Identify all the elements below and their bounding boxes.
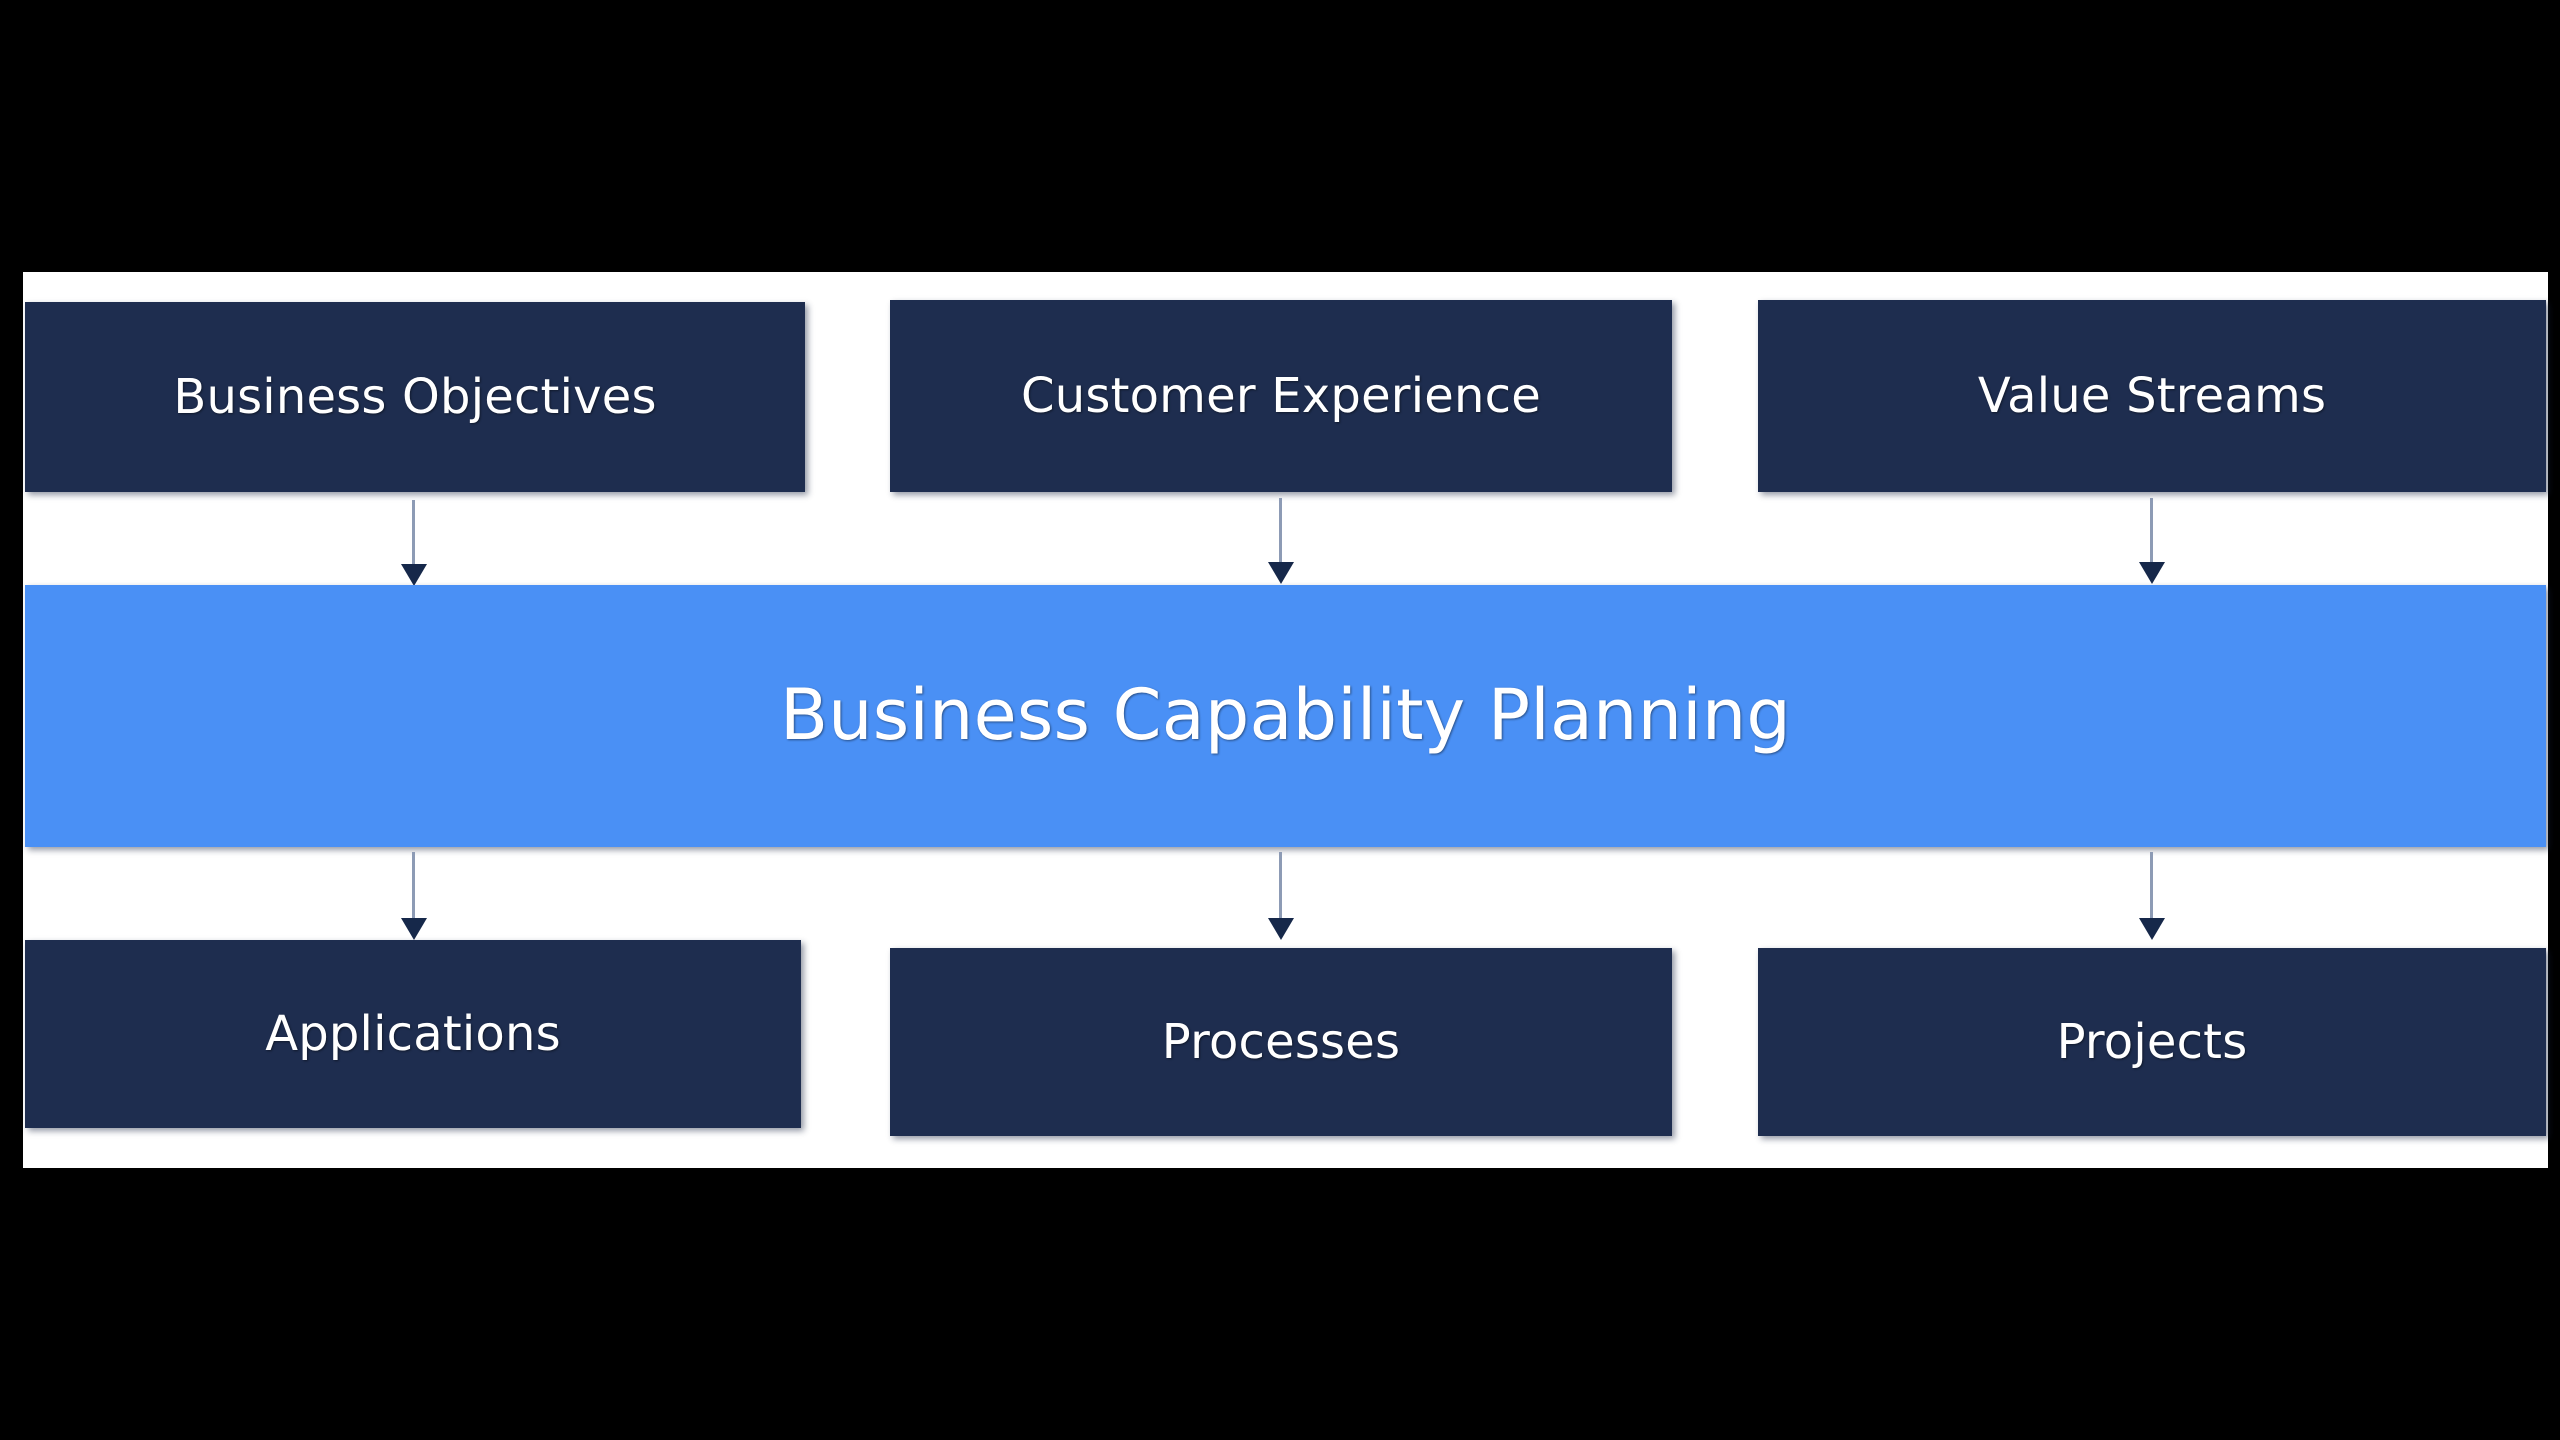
- node-business-objectives[interactable]: Business Objectives: [25, 302, 805, 492]
- node-business-objectives-label: Business Objectives: [25, 372, 805, 422]
- arrow-shaft: [1279, 498, 1282, 564]
- slide-canvas: Business Objectives Customer Experience …: [23, 272, 2548, 1168]
- node-applications-label: Applications: [25, 1009, 801, 1059]
- node-value-streams-label: Value Streams: [1758, 371, 2546, 421]
- node-customer-experience[interactable]: Customer Experience: [890, 300, 1672, 492]
- node-projects[interactable]: Projects: [1758, 948, 2546, 1136]
- arrow-shaft: [412, 500, 415, 566]
- node-value-streams[interactable]: Value Streams: [1758, 300, 2546, 492]
- arrow-business-objectives-to-planning-icon: [401, 500, 427, 588]
- arrow-head: [1268, 562, 1294, 584]
- arrow-shaft: [2150, 852, 2153, 920]
- arrow-shaft: [2150, 498, 2153, 564]
- arrow-head: [2139, 562, 2165, 584]
- node-projects-label: Projects: [1758, 1017, 2546, 1067]
- arrow-customer-experience-to-planning-icon: [1268, 498, 1294, 586]
- arrow-planning-to-applications-icon: [401, 852, 427, 942]
- arrow-shaft: [1279, 852, 1282, 920]
- arrow-head: [401, 918, 427, 940]
- node-business-capability-planning-label: Business Capability Planning: [25, 679, 2546, 753]
- node-business-capability-planning[interactable]: Business Capability Planning: [25, 585, 2546, 847]
- slide-stage: Business Objectives Customer Experience …: [0, 0, 2560, 1440]
- node-customer-experience-label: Customer Experience: [890, 371, 1672, 421]
- arrow-head: [401, 564, 427, 586]
- arrow-head: [2139, 918, 2165, 940]
- arrow-head: [1268, 918, 1294, 940]
- node-processes[interactable]: Processes: [890, 948, 1672, 1136]
- arrow-shaft: [412, 852, 415, 920]
- node-applications[interactable]: Applications: [25, 940, 801, 1128]
- arrow-planning-to-projects-icon: [2139, 852, 2165, 942]
- arrow-value-streams-to-planning-icon: [2139, 498, 2165, 586]
- arrow-planning-to-processes-icon: [1268, 852, 1294, 942]
- node-processes-label: Processes: [890, 1017, 1672, 1067]
